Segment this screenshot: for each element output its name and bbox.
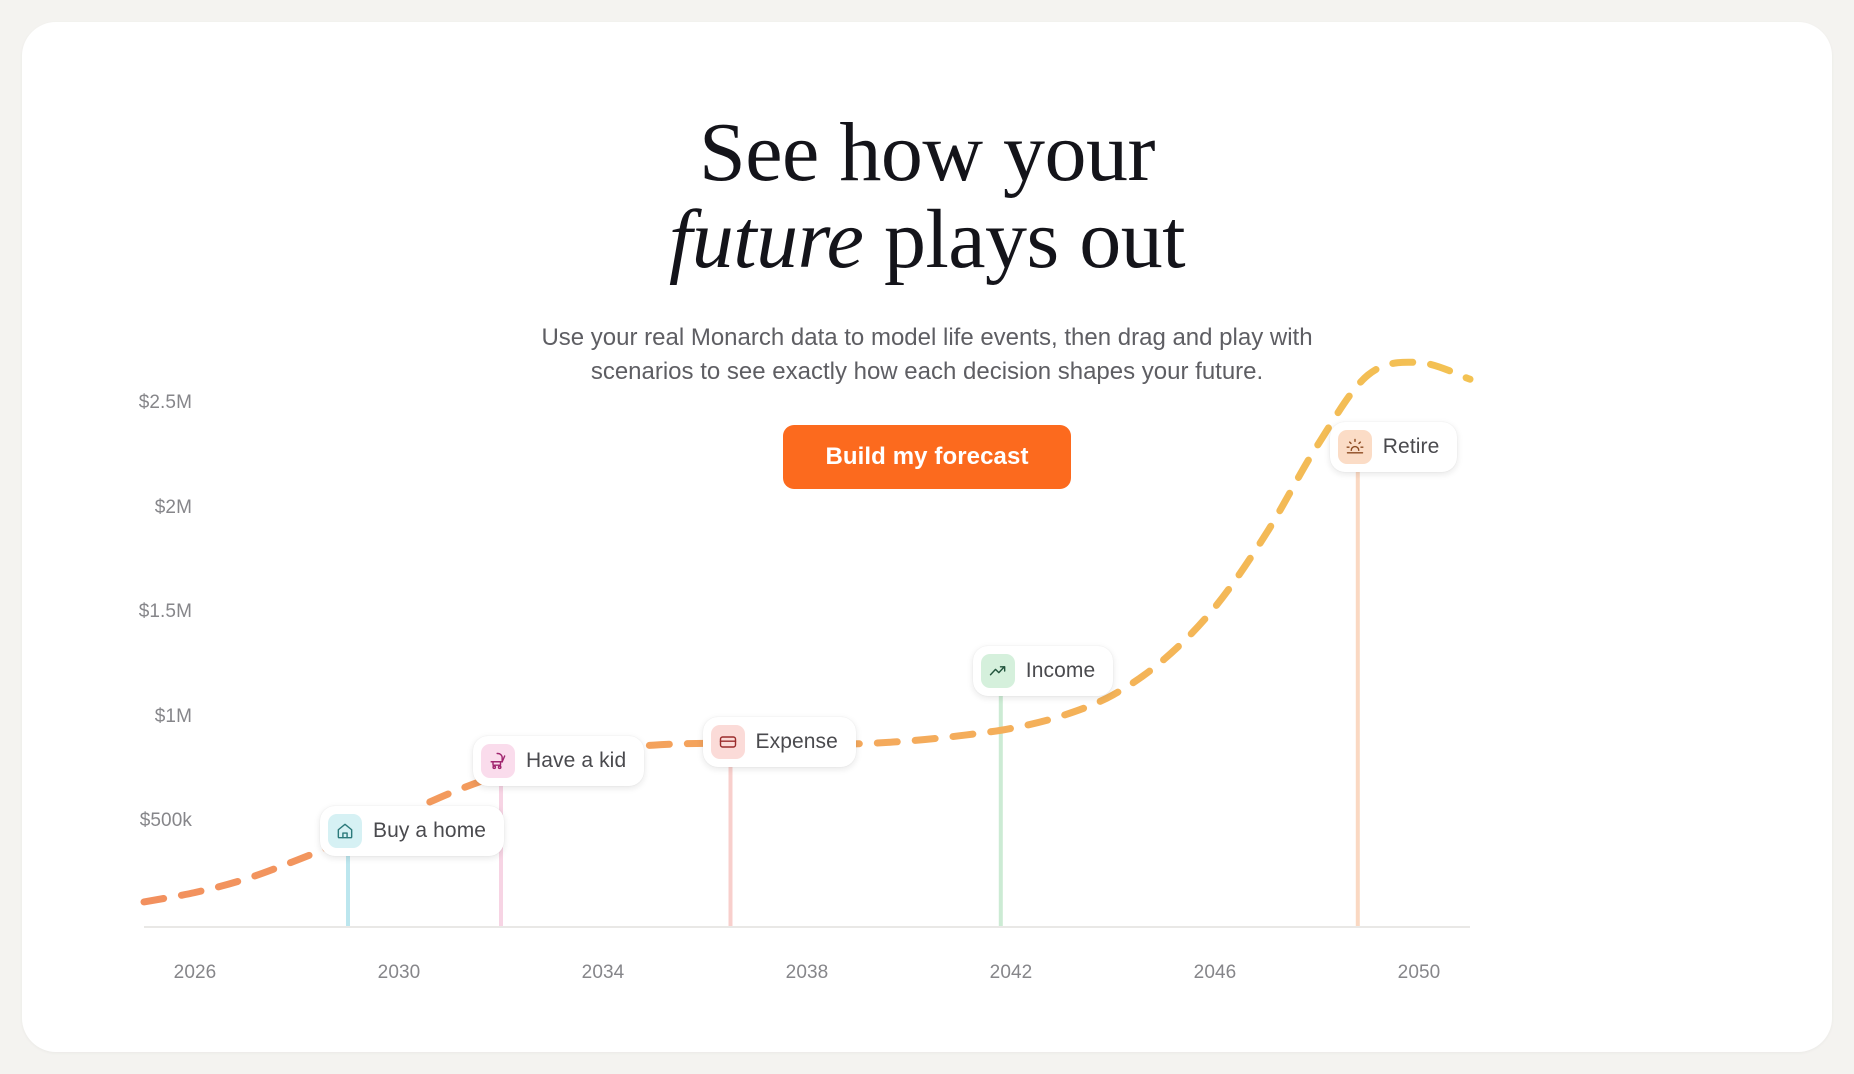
headline-emphasis: future — [669, 193, 864, 286]
event-marker-label: Have a kid — [526, 749, 626, 773]
headline-line-1: See how your — [699, 106, 1155, 199]
home-icon — [328, 814, 362, 848]
trending-up-icon — [981, 654, 1015, 688]
hero-subtitle: Use your real Monarch data to model life… — [487, 321, 1367, 389]
headline-rest: plays out — [863, 193, 1185, 286]
hero-text-block: See how your future plays out Use your r… — [22, 22, 1832, 489]
event-marker-expense[interactable]: Expense — [703, 717, 856, 767]
credit-card-icon — [711, 725, 745, 759]
event-marker-label: Income — [1026, 659, 1095, 683]
hero-card: $2.5M$2M$1.5M$1M$500k 202620302034203820… — [22, 22, 1832, 1052]
build-my-forecast-button[interactable]: Build my forecast — [783, 425, 1070, 489]
event-marker-label: Expense — [756, 730, 838, 754]
event-marker-label: Buy a home — [373, 819, 486, 843]
event-marker-have-a-kid[interactable]: Have a kid — [473, 736, 644, 786]
page-title: See how your future plays out — [22, 110, 1832, 283]
event-marker-income[interactable]: Income — [973, 646, 1113, 696]
cta-container: Build my forecast — [22, 425, 1832, 489]
stroller-icon — [481, 744, 515, 778]
page-root: $2.5M$2M$1.5M$1M$500k 202620302034203820… — [0, 0, 1854, 1074]
event-marker-buy-a-home[interactable]: Buy a home — [320, 806, 504, 856]
